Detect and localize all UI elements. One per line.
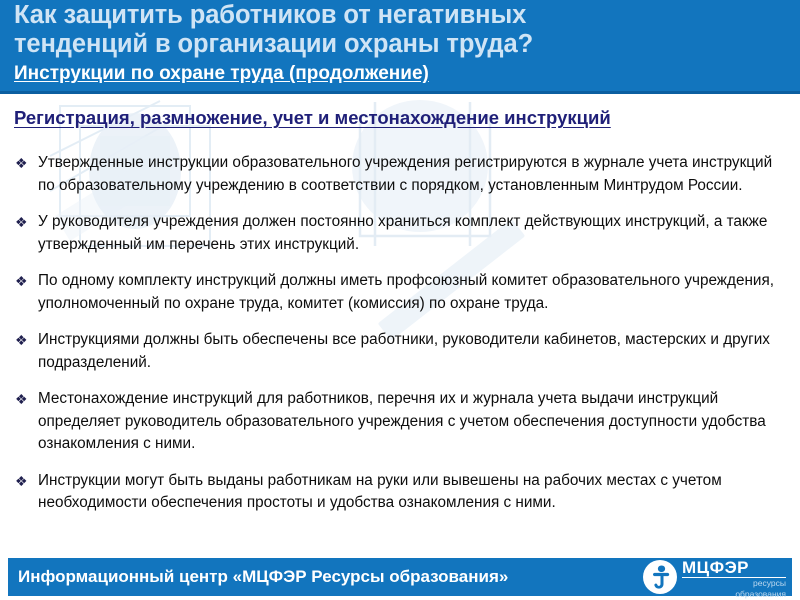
list-item-text: Местонахождение инструкций для работнико… xyxy=(38,388,788,456)
page-title: Как защитить работников от негативных те… xyxy=(14,1,789,59)
slide: Как защитить работников от негативных те… xyxy=(0,0,800,600)
diamond-bullet-icon: ❖ xyxy=(12,388,38,411)
diamond-bullet-icon: ❖ xyxy=(12,470,38,493)
mcfer-logo: МЦФЭР ресурсы образования xyxy=(628,558,788,596)
logo-sub-text-1: ресурсы xyxy=(682,578,786,589)
footer-organization-text: Информационный центр «МЦФЭР Ресурсы обра… xyxy=(18,566,508,588)
list-item: ❖ Местонахождение инструкций для работни… xyxy=(12,388,788,456)
slide-footer: Информационный центр «МЦФЭР Ресурсы обра… xyxy=(8,558,792,596)
diamond-bullet-icon: ❖ xyxy=(12,211,38,234)
logo-sub-text-2: образования xyxy=(682,589,786,600)
list-item: ❖ Инструкции могут быть выданы работника… xyxy=(12,470,788,515)
list-item: ❖ По одному комплекту инструкций должны … xyxy=(12,270,788,315)
section-heading: Регистрация, размножение, учет и местона… xyxy=(14,107,611,129)
list-item-text: По одному комплекту инструкций должны им… xyxy=(38,270,788,315)
list-item: ❖ Утвержденные инструкции образовательно… xyxy=(12,152,788,197)
list-item-text: Утвержденные инструкции образовательного… xyxy=(38,152,788,197)
page-subtitle: Инструкции по охране труда (продолжение) xyxy=(14,63,429,85)
diamond-bullet-icon: ❖ xyxy=(12,152,38,175)
logo-main-text: МЦФЭР xyxy=(682,559,786,578)
list-item-text: Инструкции могут быть выданы работникам … xyxy=(38,470,788,515)
diamond-bullet-icon: ❖ xyxy=(12,270,38,293)
list-item: ❖ У руководителя учреждения должен посто… xyxy=(12,211,788,256)
list-item-text: Инструкциями должны быть обеспечены все … xyxy=(38,329,788,374)
bullet-list: ❖ Утвержденные инструкции образовательно… xyxy=(12,152,788,529)
slide-header: Как защитить работников от негативных те… xyxy=(0,0,800,94)
list-item-text: У руководителя учреждения должен постоян… xyxy=(38,211,788,256)
logo-wordmark: МЦФЭР ресурсы образования xyxy=(682,559,786,599)
logo-figure-icon xyxy=(642,559,678,595)
list-item: ❖ Инструкциями должны быть обеспечены вс… xyxy=(12,329,788,374)
diamond-bullet-icon: ❖ xyxy=(12,329,38,352)
